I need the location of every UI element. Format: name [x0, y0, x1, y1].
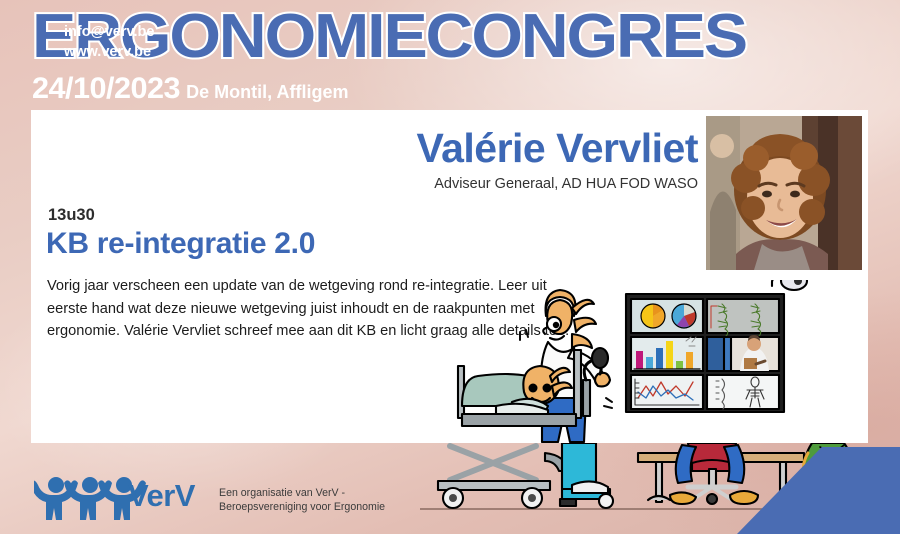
speaker-block: Valérie Vervliet Adviseur Generaal, AD H… [416, 124, 698, 192]
contact-website[interactable]: www.verv.be [64, 42, 154, 62]
speaker-role: Adviseur Generaal, AD HUA FOD WASO [416, 176, 698, 192]
organisation-line-2: Beroepsvereniging voor Ergonomie [219, 500, 385, 514]
speaker-name: Valérie Vervliet [416, 124, 698, 172]
session-time: 13u30 [48, 206, 95, 225]
organisation-text: Een organisatie van VerV - Beroepsvereni… [219, 486, 385, 514]
session-title: KB re-integratie 2.0 [46, 227, 315, 261]
contact-info: info@verv.be www.verv.be [64, 22, 154, 62]
session-card: Valérie Vervliet Adviseur Generaal, AD H… [31, 110, 868, 443]
header-subline: 24/10/2023 De Montil, Affligem [32, 72, 348, 106]
illustration [420, 280, 868, 443]
event-venue: De Montil, Affligem [186, 82, 348, 103]
verv-logo-text: VerV [128, 478, 195, 514]
event-date: 24/10/2023 [32, 72, 180, 106]
congress-poster: ERGONOMIECONGRES 24/10/2023 De Montil, A… [0, 0, 900, 534]
organisation-line-1: Een organisatie van VerV - [219, 486, 385, 500]
contact-email[interactable]: info@verv.be [64, 22, 154, 42]
avatar [706, 116, 862, 270]
